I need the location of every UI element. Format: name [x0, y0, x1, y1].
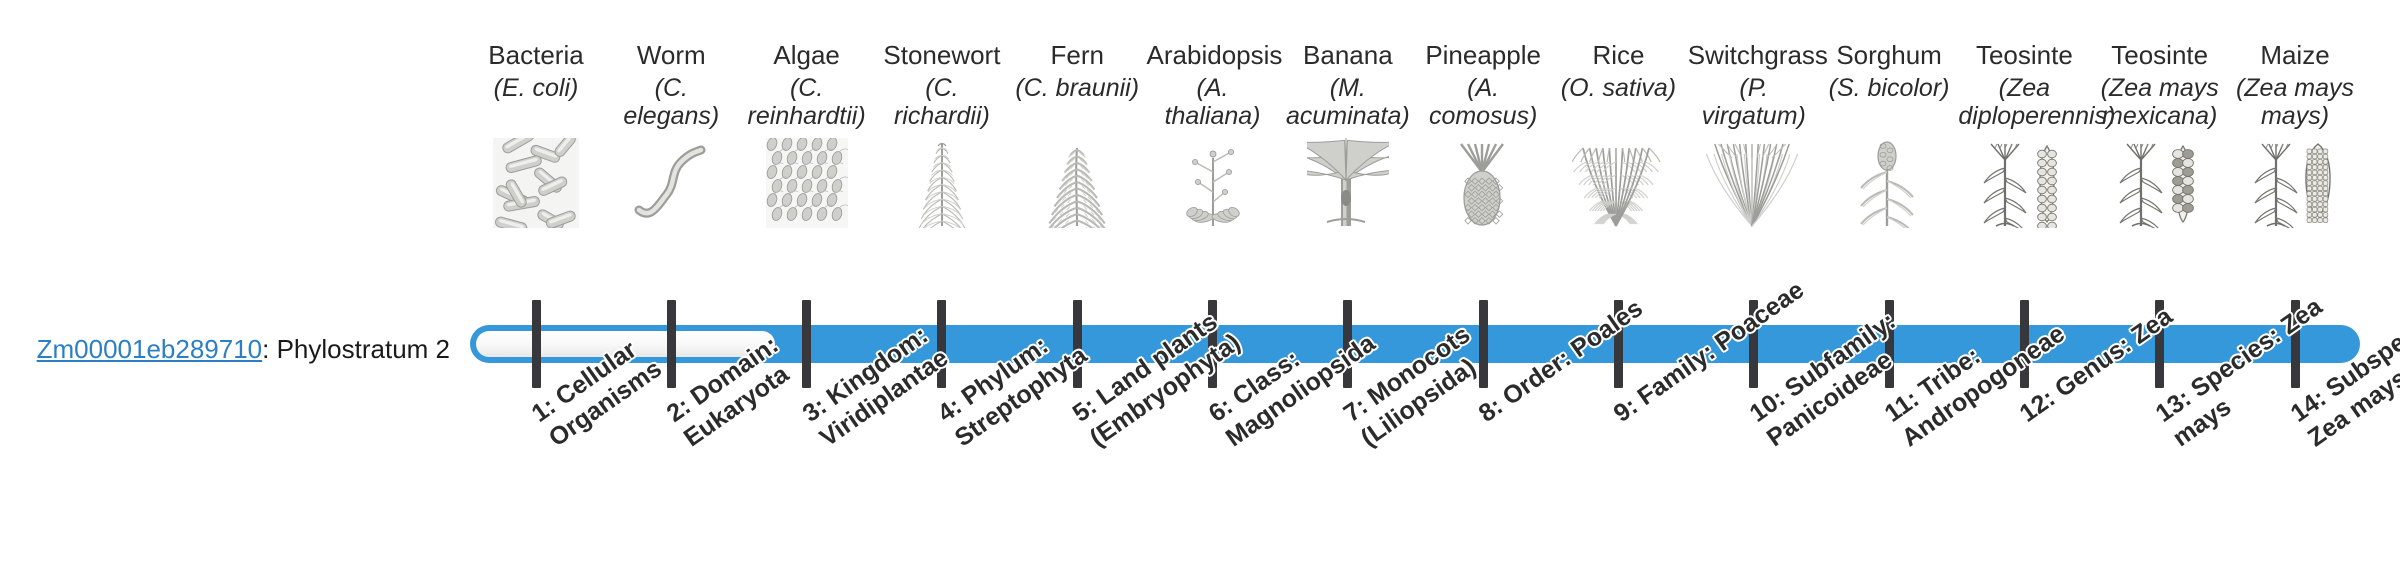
organism-common-name: Maize	[2229, 40, 2361, 70]
organism-common-name: Sorghum	[1823, 40, 1955, 70]
organism-scientific-name: (A. comosus)	[1417, 74, 1549, 130]
organism-scientific-name: (M. acuminata)	[1282, 74, 1414, 130]
switchgrass-icon	[1688, 138, 1820, 228]
organism-common-name: Arabidopsis	[1147, 40, 1279, 70]
organism-scientific-name: (E. coli)	[470, 74, 602, 102]
teosinte-icon	[2094, 138, 2226, 228]
maize-icon	[2229, 138, 2361, 228]
organism-common-name: Teosinte	[1958, 40, 2090, 70]
organism-scientific-name: (C. reinhardtii)	[741, 74, 873, 130]
pineapple-icon	[1417, 138, 1549, 228]
gene-label-separator: :	[262, 334, 276, 364]
sorghum-icon	[1823, 138, 1955, 228]
organism-common-name: Fern	[1011, 40, 1143, 70]
stage-tick[interactable]	[532, 300, 541, 388]
stonewort-icon	[876, 138, 1008, 228]
worm-icon	[605, 138, 737, 228]
organism-common-name: Switchgrass	[1688, 40, 1820, 70]
organism-scientific-name: (Zea mays mays)	[2229, 74, 2361, 130]
rank-index: 12:	[2015, 384, 2061, 428]
organism-common-name: Bacteria	[470, 40, 602, 70]
phylostratigraphy-timeline: Zm00001eb289710: Phylostratum 2 Bacteria…	[0, 0, 2400, 580]
organism-common-name: Pineapple	[1417, 40, 1549, 70]
organism-scientific-name: (P. virgatum)	[1688, 74, 1820, 130]
organism-scientific-name: (C. richardii)	[876, 74, 1008, 130]
organism-common-name: Worm	[605, 40, 737, 70]
gene-id-link[interactable]: Zm00001eb289710	[37, 334, 263, 364]
rice-icon	[1552, 138, 1684, 228]
algae-icon	[741, 138, 873, 228]
banana-icon	[1282, 138, 1414, 228]
teosinte-icon	[1958, 138, 2090, 228]
organism-scientific-name: (Zea diploperennis)	[1958, 74, 2090, 130]
organism-common-name: Rice	[1552, 40, 1684, 70]
organism-scientific-name: (C. braunii)	[1011, 74, 1143, 102]
organism-scientific-name: (O. sativa)	[1552, 74, 1684, 102]
fern-icon	[1011, 138, 1143, 228]
gene-phylostratum-label: Zm00001eb289710: Phylostratum 2	[30, 334, 450, 365]
bacteria-icon	[470, 138, 602, 228]
arabidopsis-icon	[1147, 138, 1279, 228]
organism-scientific-name: (A. thaliana)	[1147, 74, 1279, 130]
organism-scientific-name: (Zea mays mexicana)	[2094, 74, 2226, 130]
phylostratum-value-text: Phylostratum 2	[277, 334, 450, 364]
organism-common-name: Banana	[1282, 40, 1414, 70]
organism-scientific-name: (S. bicolor)	[1823, 74, 1955, 102]
organism-scientific-name: (C. elegans)	[605, 74, 737, 130]
organism-common-name: Algae	[741, 40, 873, 70]
organism-common-name: Teosinte	[2094, 40, 2226, 70]
organism-common-name: Stonewort	[876, 40, 1008, 70]
